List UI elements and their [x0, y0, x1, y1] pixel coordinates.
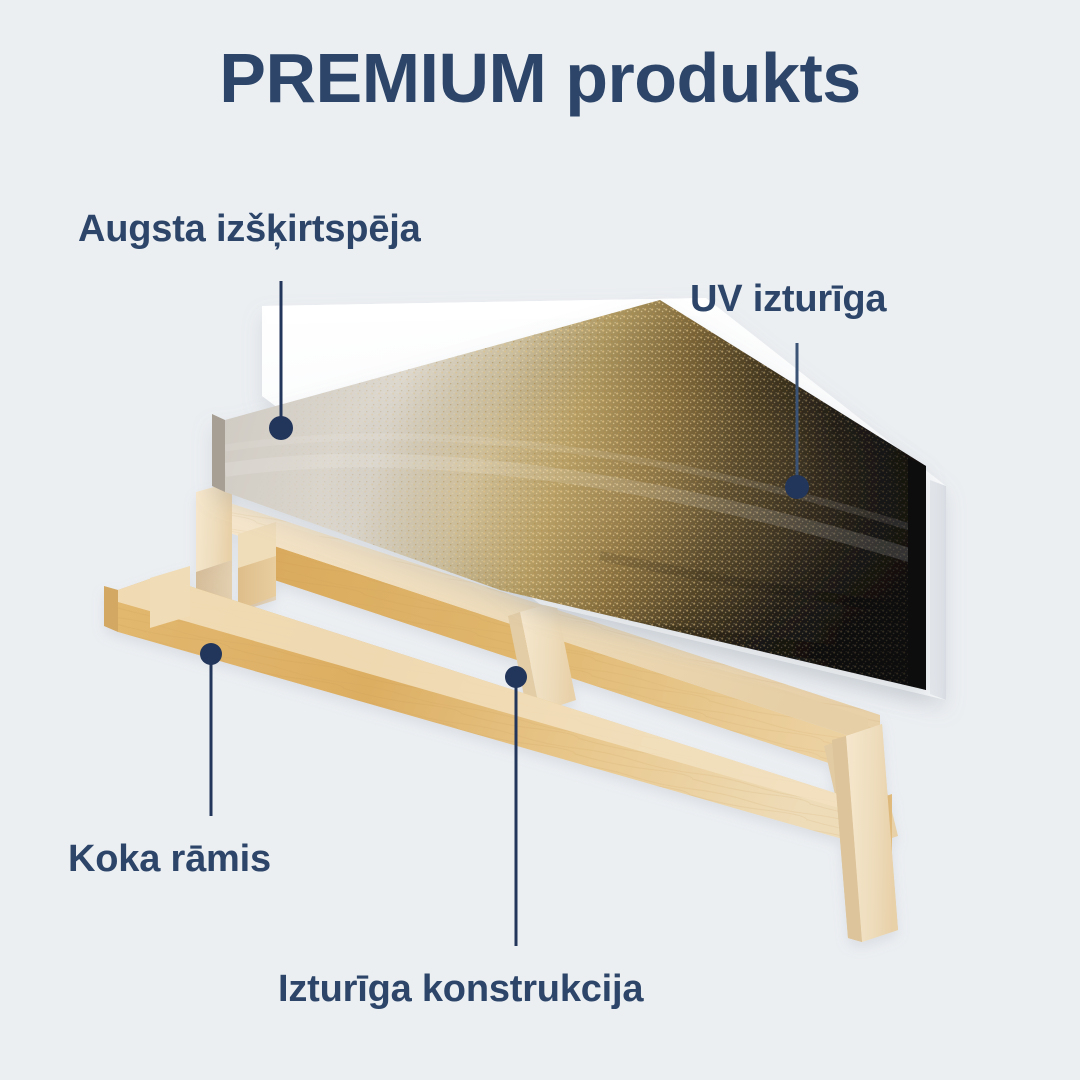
leader-frame	[200, 643, 222, 816]
frame-inner-left-cap	[238, 522, 276, 612]
callout-label-uv: UV izturīga	[690, 278, 886, 321]
page-title-strong: PREMIUM	[219, 39, 546, 117]
frame-strut-overlay	[832, 724, 898, 942]
callout-label-construction: Izturīga konstrukcija	[278, 968, 643, 1011]
page-title: PREMIUM produkts	[0, 38, 1080, 118]
premium-product-infographic: PREMIUM produkts Augsta izšķirtspēja UV …	[0, 0, 1080, 1080]
callout-label-resolution: Augsta izšķirtspēja	[78, 208, 421, 251]
page-title-rest: produkts	[546, 39, 860, 117]
callout-label-frame: Koka rāmis	[68, 838, 271, 881]
exploded-product-illustration	[0, 0, 1080, 1080]
